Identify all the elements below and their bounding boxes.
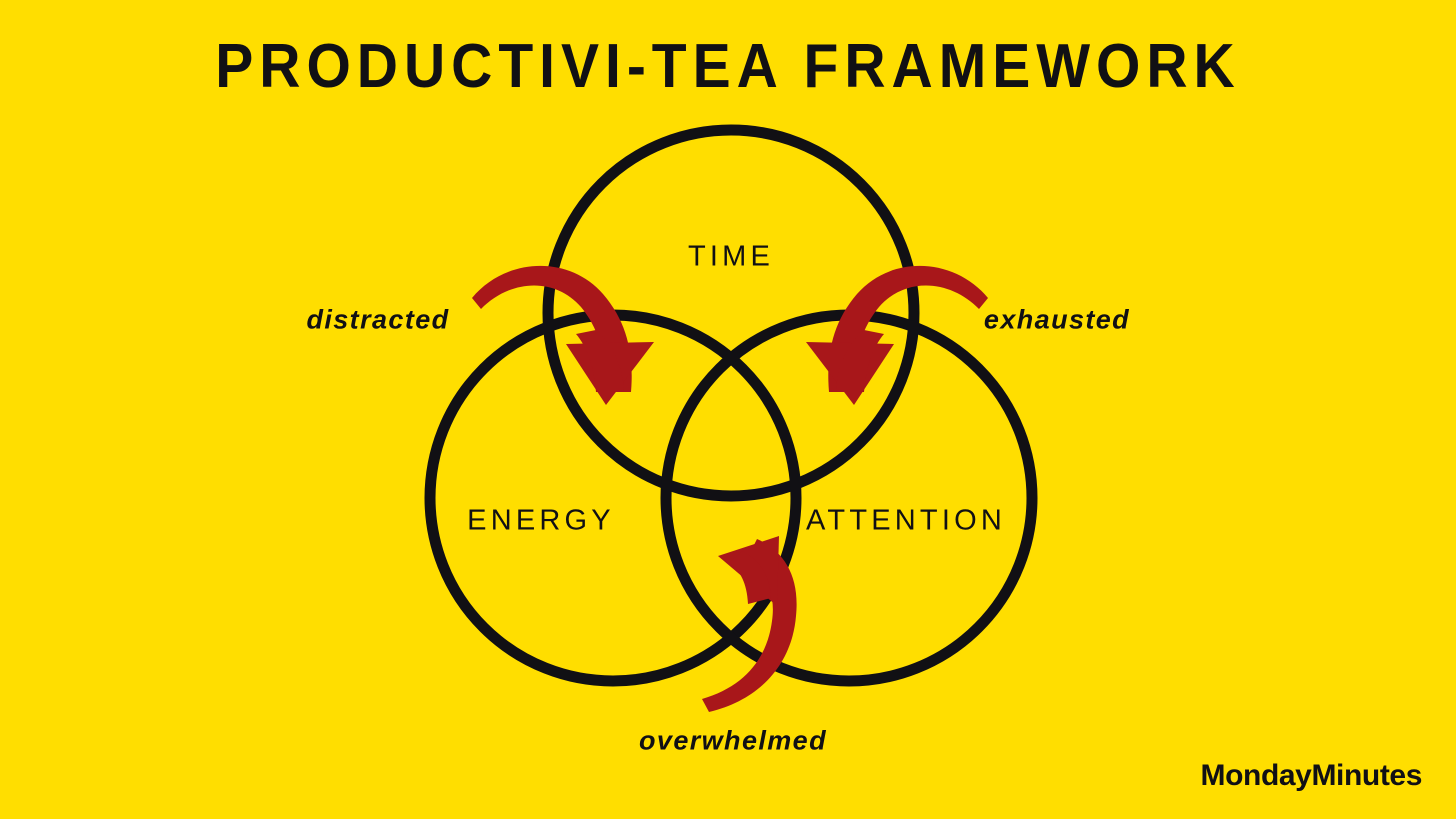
venn-label-attention: ATTENTION bbox=[806, 505, 1006, 538]
venn-label-time: TIME bbox=[688, 241, 774, 274]
venn-label-energy: ENERGY bbox=[467, 505, 615, 538]
venn-diagram-graphics bbox=[0, 0, 1456, 819]
annotation-exhausted: exhausted bbox=[984, 305, 1130, 336]
annotation-overwhelmed: overwhelmed bbox=[639, 726, 827, 757]
slide-canvas: PRODUCTIVI-TEA FRAMEWORK bbox=[0, 0, 1456, 819]
venn-diagram: TIME ENERGY ATTENTION distracted exhaust… bbox=[0, 0, 1456, 819]
brand-watermark: MondayMinutes bbox=[1201, 759, 1422, 793]
annotation-distracted: distracted bbox=[306, 305, 449, 336]
